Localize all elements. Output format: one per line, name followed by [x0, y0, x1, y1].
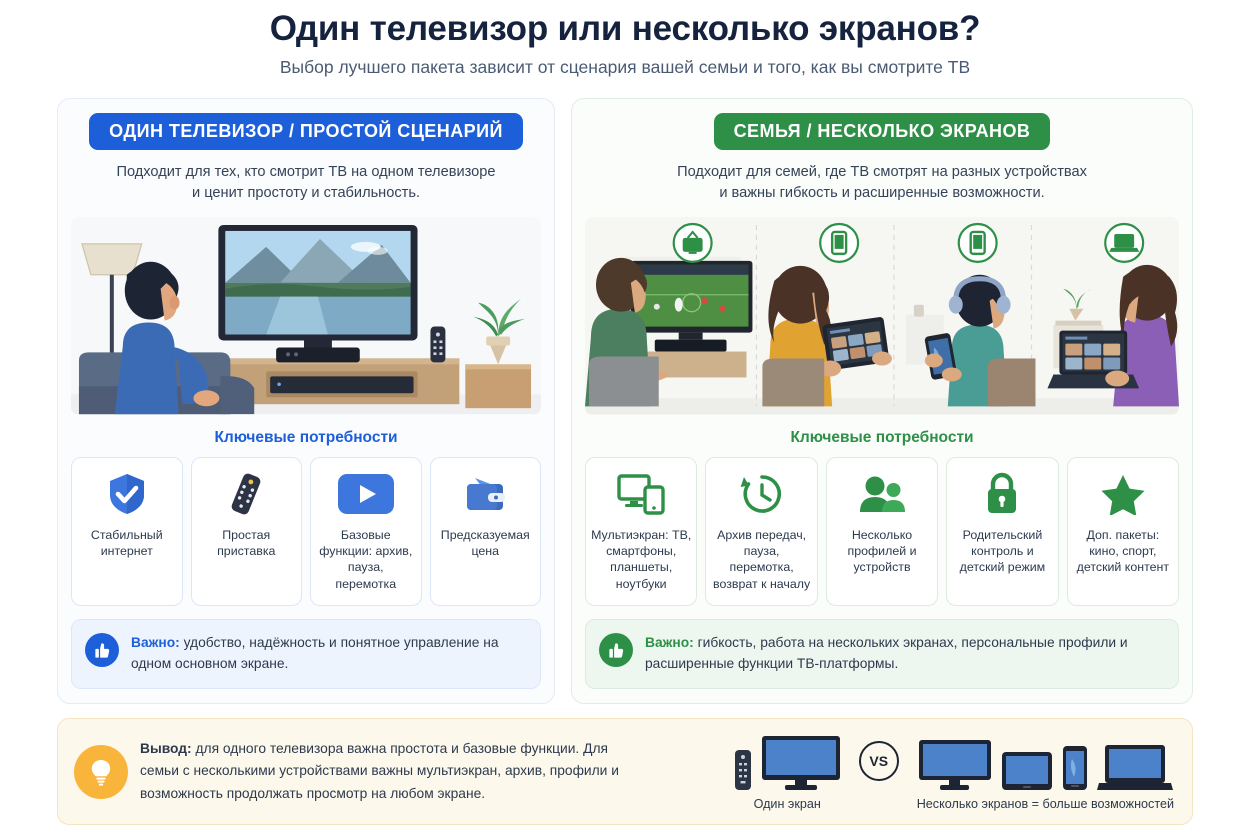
right-lead-line-1: Подходит для семей, где ТВ смотрят на ра…: [591, 162, 1173, 184]
need-card-label: Предсказуемая цена: [436, 527, 536, 560]
need-card-extra-packages[interactable]: Доп. пакеты: кино, спорт, детский контен…: [1067, 457, 1179, 607]
left-needs-cards: Стабильный интернет: [71, 457, 541, 607]
need-card-label: Простая приставка: [197, 527, 297, 560]
left-lead-line-1: Подходит для тех, кто смотрит ТВ на одно…: [77, 162, 535, 184]
right-needs-cards: Мультиэкран: ТВ, смартфоны, планшеты, но…: [585, 457, 1179, 607]
conclusion-strong: Вывод:: [140, 741, 192, 756]
clock-rewind-icon: [740, 471, 784, 517]
need-card-label: Архив передач, пауза, перемотка, возврат…: [711, 527, 811, 593]
wallet-icon: [463, 471, 507, 517]
need-card-label: Доп. пакеты: кино, спорт, детский контен…: [1073, 527, 1173, 576]
users-profiles-icon: [858, 471, 906, 517]
need-card-simple-settop-box[interactable]: Простая приставка: [191, 457, 303, 607]
panel-family-multiscreen: СЕМЬЯ / НЕСКОЛЬКО ЭКРАНОВ Подходит для с…: [571, 98, 1193, 705]
left-note-text: Важно: удобство, надёжность и понятное у…: [131, 632, 526, 675]
page-title: Один телевизор или несколько экранов?: [0, 9, 1250, 50]
right-panel-lead: Подходит для семей, где ТВ смотрят на ра…: [585, 162, 1179, 206]
need-card-label: Родительский контроль и детский режим: [952, 527, 1052, 576]
left-panel-pill: ОДИН ТЕЛЕВИЗОР / ПРОСТОЙ СЦЕНАРИЙ: [89, 113, 523, 150]
shield-check-icon: [107, 471, 147, 517]
left-important-note: Важно: удобство, надёжность и понятное у…: [71, 619, 541, 689]
right-important-note: Важно: гибкость, работа на нескольких эк…: [585, 619, 1179, 689]
lock-icon: [984, 471, 1020, 517]
infographic-page: Один телевизор или несколько экранов? Вы…: [0, 0, 1250, 833]
right-needs-title: Ключевые потребности: [585, 429, 1179, 447]
panel-single-tv: ОДИН ТЕЛЕВИЗОР / ПРОСТОЙ СЦЕНАРИЙ Подход…: [57, 98, 555, 704]
multiscreen-icon: [617, 471, 665, 517]
need-card-label: Стабильный интернет: [77, 527, 177, 560]
need-card-label: Мультиэкран: ТВ, смартфоны, планшеты, но…: [591, 527, 691, 593]
remote-icon: [734, 749, 752, 791]
right-note-strong: Важно:: [645, 635, 694, 650]
right-note-text: Важно: гибкость, работа на нескольких эк…: [645, 632, 1164, 675]
left-lead-line-2: и ценит простоту и стабильность.: [77, 183, 535, 205]
left-pill-wrap: ОДИН ТЕЛЕВИЗОР / ПРОСТОЙ СЦЕНАРИЙ: [71, 113, 541, 150]
left-panel-lead: Подходит для тех, кто смотрит ТВ на одно…: [71, 162, 541, 206]
lightbulb-icon: [74, 745, 128, 799]
need-card-basic-functions[interactable]: Базовые функции: архив, пауза, перемотка: [310, 457, 422, 607]
tv-remote-icon: [225, 471, 267, 517]
right-illustration: [585, 217, 1179, 414]
need-card-label: Базовые функции: архив, пауза, перемотка: [316, 527, 416, 593]
conclusion-body: для одного телевизора важна простота и б…: [140, 741, 619, 801]
laptop-icon: [1097, 743, 1173, 791]
need-card-profiles[interactable]: Несколько профилей и устройств: [826, 457, 938, 607]
single-screen-group: Один экран: [734, 733, 841, 811]
conclusion-bar: Вывод: для одного телевизора важна прост…: [57, 718, 1193, 825]
need-card-parental-control[interactable]: Родительский контроль и детский режим: [946, 457, 1058, 607]
right-panel-pill: СЕМЬЯ / НЕСКОЛЬКО ЭКРАНОВ: [714, 113, 1051, 150]
single-screen-label: Один экран: [754, 797, 821, 811]
left-needs-title: Ключевые потребности: [71, 429, 541, 447]
star-icon: [1101, 471, 1145, 517]
need-card-multiscreen[interactable]: Мультиэкран: ТВ, смартфоны, планшеты, но…: [585, 457, 697, 607]
need-card-predictable-price[interactable]: Предсказуемая цена: [430, 457, 542, 607]
right-note-body: гибкость, работа на нескольких экранах, …: [645, 635, 1128, 671]
vs-badge: VS: [859, 741, 899, 781]
tablet-icon: [1001, 751, 1053, 791]
need-card-label: Несколько профилей и устройств: [832, 527, 932, 576]
smartphone-icon: [1062, 745, 1088, 791]
left-note-strong: Важно:: [131, 635, 180, 650]
tv-icon: [761, 735, 841, 791]
thumbs-up-icon: [85, 633, 119, 667]
play-button-icon: [338, 471, 394, 517]
need-card-archive[interactable]: Архив передач, пауза, перемотка, возврат…: [705, 457, 817, 607]
multi-screen-group: Несколько экранов = больше возможностей: [917, 733, 1174, 811]
screen-comparison: Один экран VS: [647, 733, 1174, 811]
need-card-stable-internet[interactable]: Стабильный интернет: [71, 457, 183, 607]
conclusion-text: Вывод: для одного телевизора важна прост…: [140, 738, 635, 805]
comparison-columns: ОДИН ТЕЛЕВИЗОР / ПРОСТОЙ СЦЕНАРИЙ Подход…: [0, 78, 1250, 705]
tv-icon: [918, 739, 992, 791]
page-subtitle: Выбор лучшего пакета зависит от сценария…: [0, 57, 1250, 78]
right-lead-line-2: и важны гибкость и расширенные возможнос…: [591, 183, 1173, 205]
multi-screen-label: Несколько экранов = больше возможностей: [917, 797, 1174, 811]
right-pill-wrap: СЕМЬЯ / НЕСКОЛЬКО ЭКРАНОВ: [585, 113, 1179, 150]
thumbs-up-icon: [599, 633, 633, 667]
single-screen-devices: [734, 733, 841, 791]
left-illustration: [71, 217, 541, 414]
page-header: Один телевизор или несколько экранов? Вы…: [0, 0, 1250, 78]
left-note-body: удобство, надёжность и понятное управлен…: [131, 635, 499, 671]
multi-screen-devices: [918, 733, 1173, 791]
